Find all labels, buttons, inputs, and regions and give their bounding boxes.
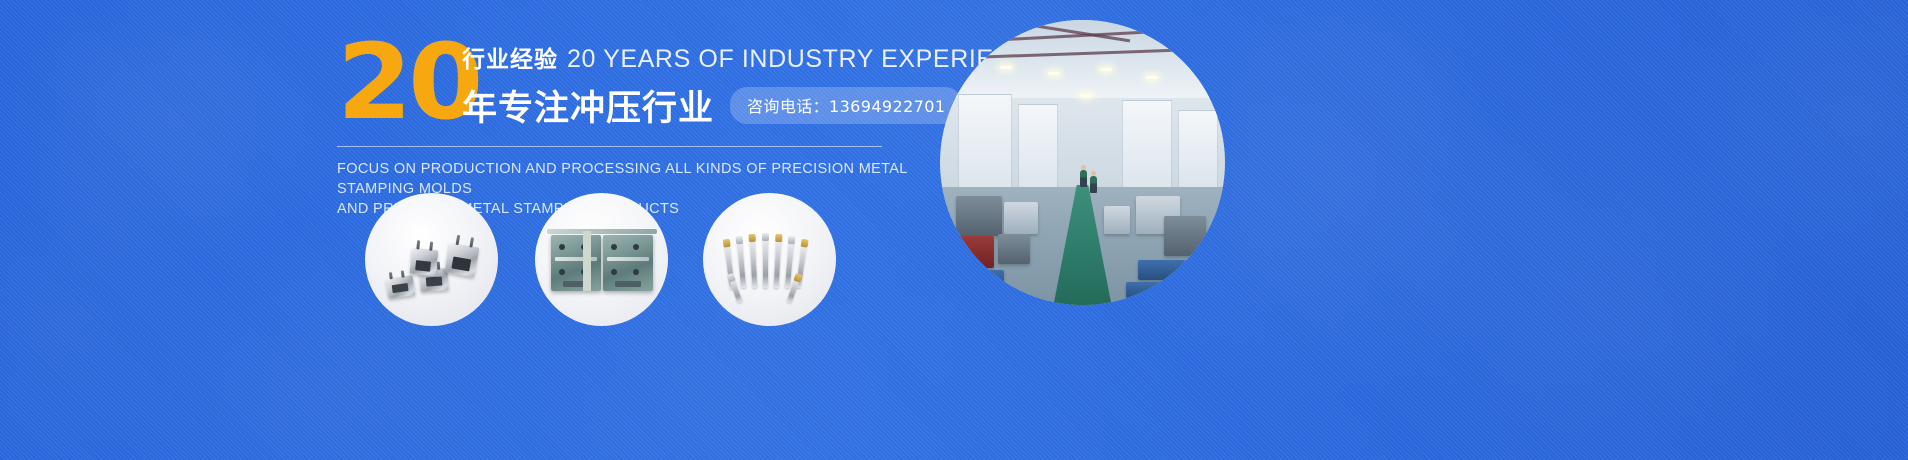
factory-machine [998,234,1030,264]
horizontal-divider [337,146,882,147]
factory-photo-circle [940,20,1225,305]
product-circle-molds [535,193,668,326]
connector-part [445,243,480,278]
terminal-pin [737,240,746,288]
stamping-focus-label-cn: 年专注冲压行业 [462,80,714,131]
factory-pallet [958,270,1004,288]
connector-part [410,248,439,277]
terminal-pin [750,238,758,288]
factory-machine [1004,202,1038,234]
mold-top-rail [547,229,657,234]
factory-wall-panel [1178,110,1218,190]
factory-machine [956,196,1002,236]
factory-machine [954,236,994,268]
mold-plate-right [603,235,653,291]
headline-group: 20 行业经验 20 YEARS OF INDUSTRY EXPERIENCE … [337,40,957,132]
factory-wall-panel [958,94,1012,198]
factory-worker [1090,176,1097,193]
years-number: 20 [337,36,479,128]
mold-plate-left [551,235,601,291]
ceiling-light [1080,94,1092,97]
product-circle-connectors [365,193,498,326]
promo-banner: 20 行业经验 20 YEARS OF INDUSTRY EXPERIENCE … [0,0,1908,460]
terminal-pin [785,240,794,288]
ceiling-light [1000,66,1012,69]
factory-scene [940,20,1225,305]
mold-center-post [583,231,591,291]
connector-part [386,275,416,299]
terminal-pin [763,237,768,288]
ceiling-light [1146,76,1158,79]
factory-machine [1104,206,1130,234]
ceiling-light [1100,68,1112,71]
terminal-pin [774,238,782,288]
contact-phone-badge[interactable]: 咨询电话：13694922701 [730,87,962,124]
ceiling-light [1048,72,1060,75]
factory-wall-panel [1018,104,1058,192]
industry-experience-label-cn: 行业经验 [462,40,558,74]
factory-pallet [1138,260,1186,280]
factory-pallet [1126,282,1170,298]
factory-worker [1080,170,1087,187]
factory-machine [1164,216,1206,256]
product-circle-pins [703,193,836,326]
factory-wall-panel [1122,100,1172,196]
